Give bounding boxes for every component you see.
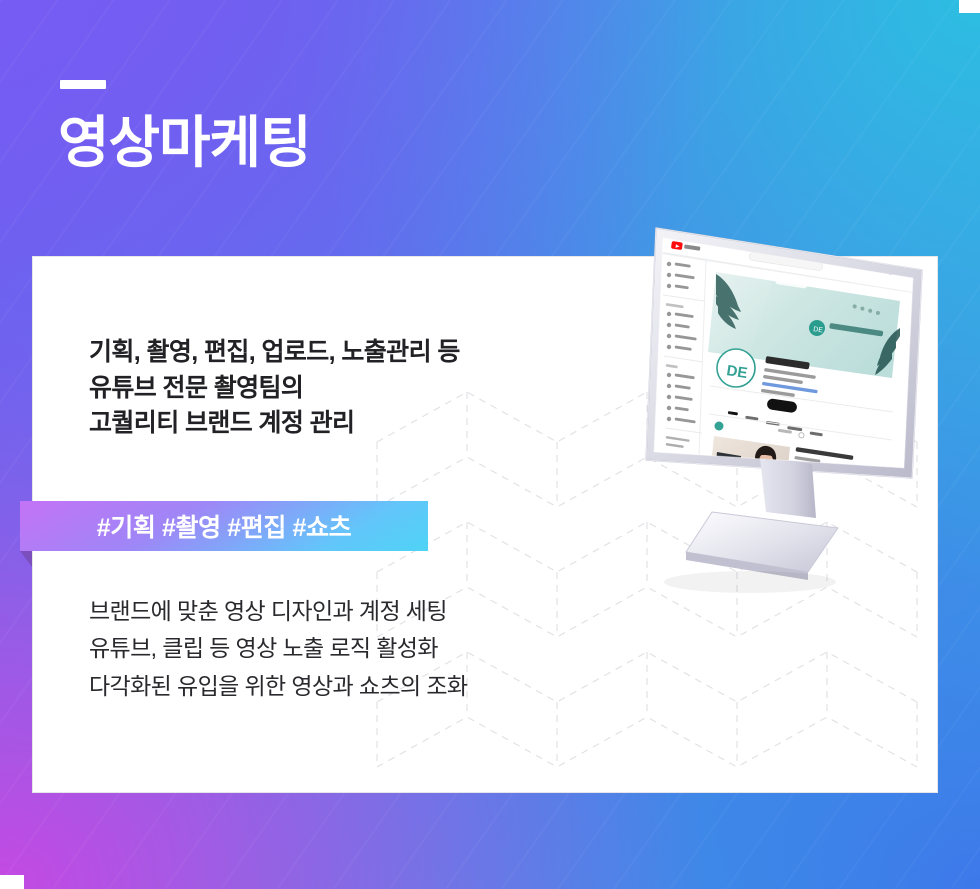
headline-text: 기획, 촬영, 편집, 업로드, 노출관리 등 유튜브 전문 촬영팀의 고퀄리티…: [89, 335, 460, 442]
hashtag-badge: #기획 #촬영 #편집 #쇼츠: [20, 501, 428, 551]
page-title: 영상마케팅: [58, 112, 311, 174]
corner-notch-bottom-left: [0, 875, 24, 889]
youtube-logo: [671, 241, 701, 251]
hashtag-badge-fold: [20, 551, 32, 567]
poster-canvas: 영상마케팅 기획, 촬영, 편집, 업로드, 노출관리 등 유튜브 전문 촬영팀…: [0, 0, 980, 889]
title-rule: [60, 80, 106, 89]
hashtag-badge-label: #기획 #촬영 #편집 #쇼츠: [20, 501, 428, 551]
subcopy-text: 브랜드에 맞춘 영상 디자인과 계정 세팅 유튜브, 클립 등 영상 노출 로직…: [89, 593, 467, 705]
corner-notch-top-right: [959, 0, 980, 13]
